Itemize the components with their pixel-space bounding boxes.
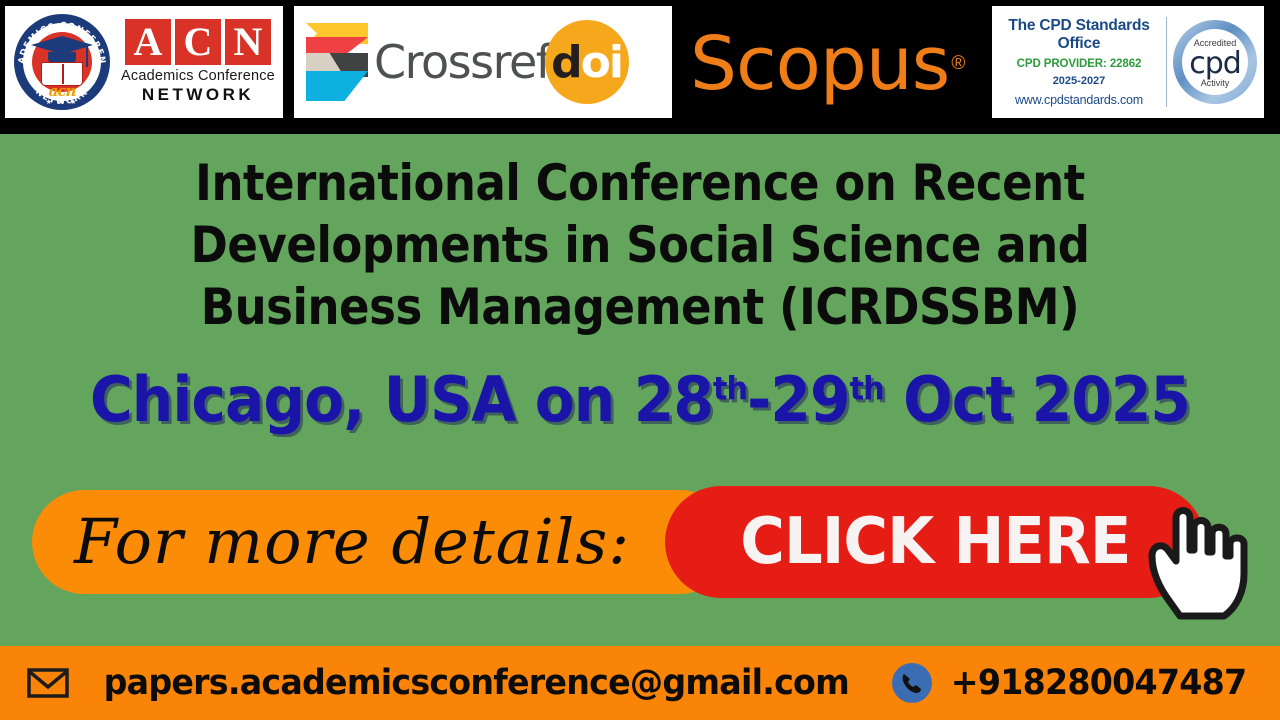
cpd-validity-years: 2025-2027 [998,75,1160,87]
contact-phone[interactable]: +918280047487 [951,666,1247,701]
cpd-office-title: The CPD Standards Office [998,17,1160,53]
more-details-pill: For more details: [32,490,732,594]
conference-dateline: Chicago, USA on 28th-29th Oct 2025 [67,362,1214,438]
graduation-tassel-icon [86,45,88,67]
dateline-location: Chicago, USA on [90,363,634,436]
doi-badge-icon: doi [545,20,629,104]
dateline-ordinal-start: th [713,369,747,407]
crossref-chevron-icon [306,23,368,101]
pointing-hand-cursor-icon [1140,498,1260,620]
contact-email[interactable]: papers.academicsconference@gmail.com [104,666,849,701]
acn-letter-n: N [225,19,271,65]
doi-letters-oi: oi [581,37,622,88]
acn-letter-blocks: A C N [118,19,278,65]
envelope-icon [26,667,70,699]
cpd-accredited-badge-icon: Accredited cpd Activity [1172,19,1258,105]
acn-subtitle-line1: Academics Conference [118,68,278,84]
cpd-standards-logo-panel: The CPD Standards Office CPD PROVIDER: 2… [992,6,1264,118]
cpd-badge-bottom-label: Activity [1172,78,1258,88]
click-here-button[interactable]: CLICK HERE [665,486,1205,598]
cpd-badge-center-label: cpd [1172,47,1258,81]
more-details-label: For more details: [74,511,630,573]
acn-letter-a: A [125,19,171,65]
conference-poster: ACADEMICS CONFERENCE NETWORK acn ★ ★ ★ [0,0,1280,720]
doi-letter-d: d [551,37,581,88]
header-logo-bar: ACADEMICS CONFERENCE NETWORK acn ★ ★ ★ [0,0,1280,134]
conference-title: International Conference on Recent Devel… [100,152,1180,338]
acn-monogram: acn [12,82,112,100]
dateline-day-end: 29 [770,363,849,436]
click-here-label: CLICK HERE [740,510,1130,574]
crossref-wordmark: Crossref [374,35,551,89]
scopus-logo-panel: Scopus® [690,16,980,112]
contact-footer-bar: papers.academicsconference@gmail.com +91… [0,646,1280,720]
dateline-month-year: Oct 2025 [884,363,1190,436]
registered-trademark-icon: ® [951,53,965,75]
dateline-day-start: 28 [634,363,713,436]
scopus-wordmark: Scopus [690,27,949,101]
cpd-provider-number: CPD PROVIDER: 22862 [998,58,1160,70]
acn-subtitle-line2: NETWORK [118,85,278,105]
acn-seal-icon: ACADEMICS CONFERENCE NETWORK acn ★ ★ ★ [12,12,112,112]
acn-letter-c: C [175,19,221,65]
crossref-logo-panel: Crossref doi [294,6,672,118]
acn-stars-icon: ★ ★ ★ [12,99,112,106]
dateline-ordinal-end: th [850,369,884,407]
cpd-website-url: www.cpdstandards.com [998,93,1160,107]
phone-icon [891,662,933,704]
call-to-action-row: For more details: CLICK HERE [32,486,1247,604]
dateline-separator: - [747,363,770,436]
acn-logo-panel: ACADEMICS CONFERENCE NETWORK acn ★ ★ ★ [5,6,283,118]
